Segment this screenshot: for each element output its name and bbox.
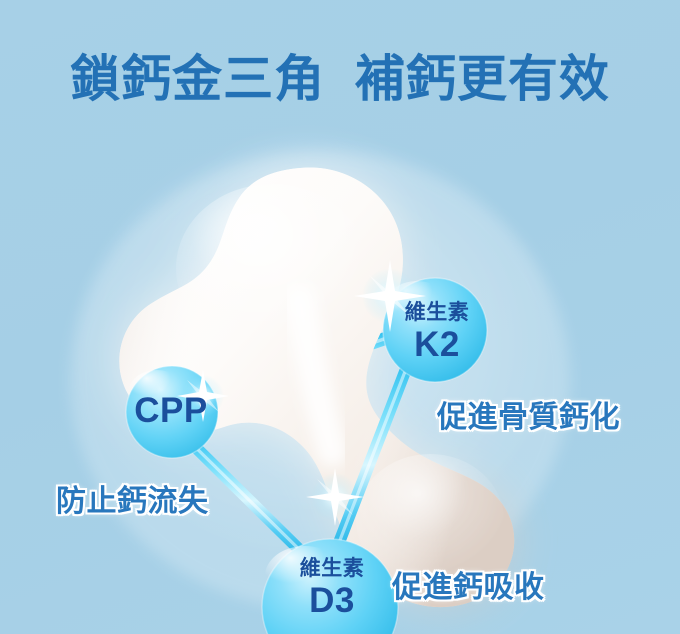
- caption-cpp: 防止鈣流失: [56, 476, 209, 520]
- caption-vitamin-k2: 促進骨質鈣化: [437, 392, 620, 436]
- caption-vitamin-d3: 促進鈣吸收: [392, 562, 545, 606]
- poster-root: 鎖鈣金三角 補鈣更有效 維生素 K2 CPP 維生素 D3 促進骨質鈣化 防止鈣…: [0, 0, 680, 634]
- page-title: 鎖鈣金三角 補鈣更有效: [0, 52, 680, 107]
